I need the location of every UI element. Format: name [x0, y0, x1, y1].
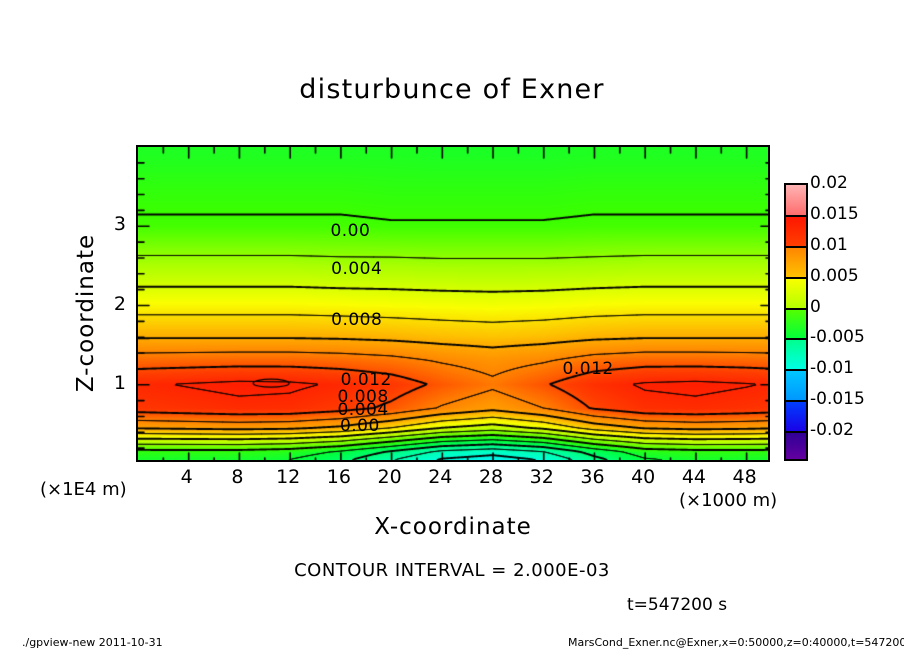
colorbar-separator — [786, 308, 806, 310]
y-tick-label: 3 — [96, 213, 126, 235]
contour-value-label: 0.00 — [330, 221, 370, 241]
y-tick-label: 1 — [96, 372, 126, 394]
x-tick-label: 48 — [733, 466, 757, 488]
colorbar-tick-label: 0 — [810, 297, 821, 317]
page-title: disturbunce of Exner — [0, 74, 904, 105]
colorbar-band — [786, 278, 806, 309]
x-tick-label: 8 — [231, 466, 243, 488]
colorbar-gradient — [784, 183, 808, 461]
colorbar-separator — [786, 246, 806, 248]
colorbar-tick-label: 0.01 — [810, 235, 848, 255]
colorbar-band — [786, 432, 806, 461]
x-tick-label: 4 — [181, 466, 193, 488]
y-axis-tick-labels: 123 — [96, 145, 126, 462]
x-tick-label: 24 — [428, 466, 452, 488]
colorbar-band — [786, 216, 806, 247]
colorbar-tick-label: -0.02 — [810, 420, 854, 440]
x-axis-title: X-coordinate — [136, 514, 770, 540]
colorbar-separator — [786, 369, 806, 371]
y-axis-title: Z-coordinate — [73, 183, 99, 443]
contour-value-label: 0.00 — [340, 416, 380, 436]
colorbar-separator — [786, 400, 806, 402]
colorbar-band — [786, 309, 806, 340]
x-tick-label: 40 — [631, 466, 655, 488]
colorbar-band — [786, 339, 806, 370]
colorbar-band — [786, 370, 806, 401]
colorbar-separator — [786, 431, 806, 433]
colorbar-band — [786, 185, 806, 216]
x-tick-label: 16 — [327, 466, 351, 488]
x-tick-label: 32 — [530, 466, 554, 488]
time-stamp-note: t=547200 s — [627, 595, 727, 615]
y-tick-label: 2 — [96, 293, 126, 315]
colorbar-band — [786, 247, 806, 278]
x-tick-label: 28 — [479, 466, 503, 488]
colorbar-tick-label: -0.015 — [810, 389, 865, 409]
colorbar-separator — [786, 277, 806, 279]
contour-value-label: 0.008 — [331, 310, 382, 330]
contour-value-label: 0.012 — [563, 359, 614, 379]
y-axis-unit-label: (×1E4 m) — [40, 479, 127, 500]
colorbar-separator — [786, 215, 806, 217]
colorbar-band — [786, 401, 806, 432]
contour-interval-note: CONTOUR INTERVAL = 2.000E-03 — [0, 560, 904, 581]
contour-plot-area: 0.000.0040.0080.0120.0080.0040.000.012 — [136, 145, 770, 462]
colorbar-tick-label: 0.02 — [810, 173, 848, 193]
x-tick-label: 44 — [682, 466, 706, 488]
colorbar-tick-labels: 0.020.0150.010.0050-0.005-0.01-0.015-0.0… — [810, 183, 900, 461]
colorbar-tick-label: 0.015 — [810, 204, 859, 224]
x-tick-label: 20 — [378, 466, 402, 488]
colorbar-tick-label: 0.005 — [810, 266, 859, 286]
footer-tool-info: ./gpview-new 2011-10-31 — [22, 636, 163, 649]
contour-field-canvas — [138, 147, 770, 462]
x-tick-label: 36 — [580, 466, 604, 488]
colorbar-tick-label: -0.01 — [810, 358, 854, 378]
x-axis-unit-label: (×1000 m) — [679, 490, 777, 511]
contour-value-label: 0.004 — [331, 259, 382, 279]
colorbar — [784, 183, 808, 461]
colorbar-tick-label: -0.005 — [810, 327, 865, 347]
x-tick-label: 12 — [276, 466, 300, 488]
footer-dataset-info: MarsCond_Exner.nc@Exner,x=0:50000,z=0:40… — [568, 636, 904, 649]
colorbar-separator — [786, 338, 806, 340]
x-axis-tick-labels: 4812162024283236404448 — [136, 466, 770, 492]
